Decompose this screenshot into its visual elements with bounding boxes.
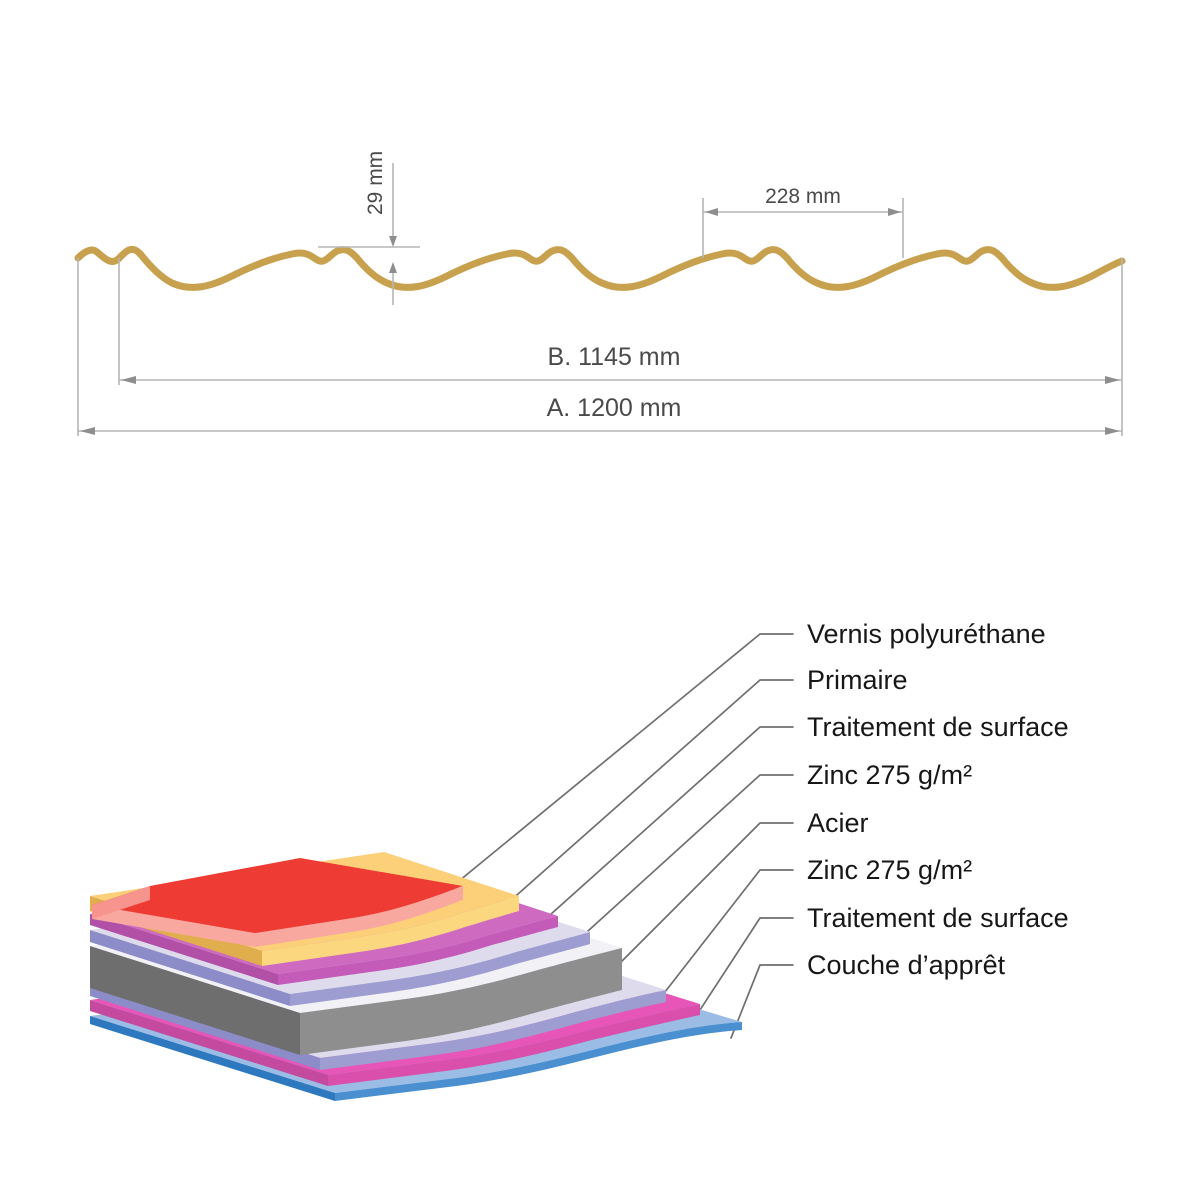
corrugation-wave-path xyxy=(78,249,1122,287)
layer-stack-illustration xyxy=(90,852,742,1101)
pitch-dimension-group: 228 mm xyxy=(703,185,903,258)
height-dimension-group: 29 mm xyxy=(318,151,420,305)
layer-label-1: Vernis polyuréthane xyxy=(807,619,1046,649)
pitch-dimension-label: 228 mm xyxy=(765,185,841,208)
cover-width-arrow-left xyxy=(121,376,136,384)
pitch-arrow-right xyxy=(888,208,901,216)
cover-width-arrow-right xyxy=(1105,376,1120,384)
leader-line-6 xyxy=(647,870,793,1015)
height-dim-arrow-bottom xyxy=(389,262,397,273)
layer-label-8: Couche d’apprêt xyxy=(807,950,1006,980)
leader-line-1 xyxy=(437,634,793,899)
layer-label-2: Primaire xyxy=(807,665,908,695)
layer-label-7: Traitement de surface xyxy=(807,903,1069,933)
corrugated-profile-group xyxy=(78,249,1122,287)
diagram-root: 29 mm 228 mm B. 1145 mm A. 12 xyxy=(0,0,1200,1200)
pitch-arrow-left xyxy=(705,208,718,216)
layer-label-5: Acier xyxy=(807,808,869,838)
layer-label-3: Traitement de surface xyxy=(807,712,1069,742)
technical-drawing-canvas: 29 mm 228 mm B. 1145 mm A. 12 xyxy=(0,0,1200,1200)
cover-width-label: B. 1145 mm xyxy=(548,343,681,371)
total-width-label: A. 1200 mm xyxy=(547,394,682,422)
leader-line-5 xyxy=(610,823,793,973)
height-dim-arrow-top xyxy=(389,236,397,247)
total-width-arrow-right xyxy=(1105,427,1120,435)
cover-width-dimension-group: B. 1145 mm xyxy=(119,258,1122,385)
layer-labels-group: Vernis polyuréthane Primaire Traitement … xyxy=(807,619,1069,980)
height-dimension-label: 29 mm xyxy=(364,151,387,215)
layer-label-4: Zinc 275 g/m² xyxy=(807,760,972,790)
layer-label-6: Zinc 275 g/m² xyxy=(807,855,972,885)
total-width-arrow-left xyxy=(80,427,95,435)
